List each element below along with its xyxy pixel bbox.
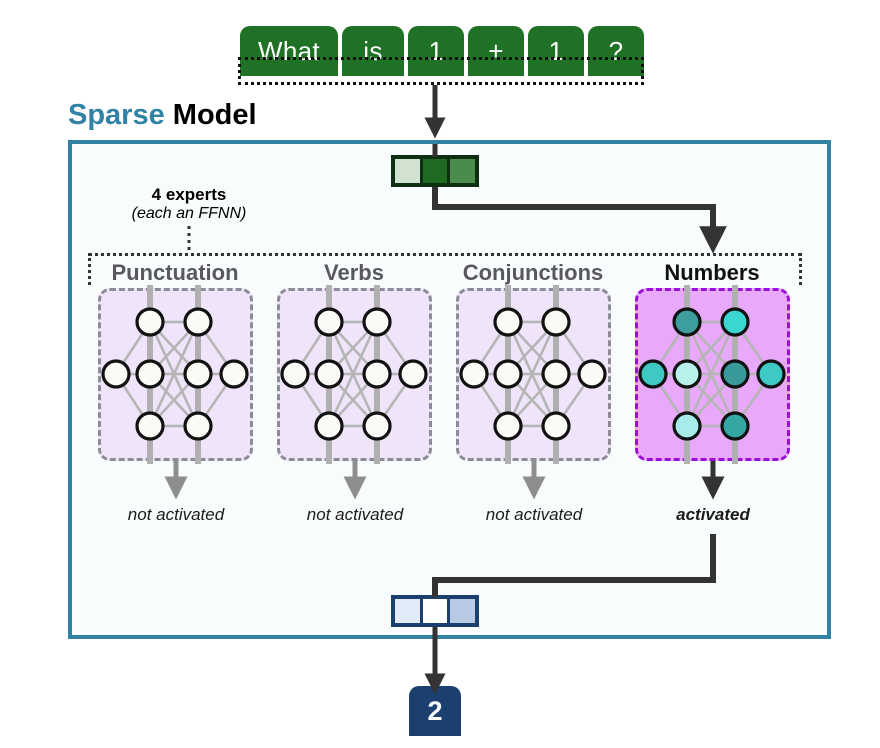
page-title: Sparse Model: [68, 99, 257, 132]
activation-status-numbers: activated: [623, 505, 803, 525]
expert-label-punctuation: Punctuation: [89, 260, 261, 286]
experts-annotation: 4 experts (each an FFNN): [96, 185, 282, 224]
activation-status-conjunctions: not activated: [444, 505, 624, 525]
output-vector-cell: [395, 599, 420, 623]
expert-box-verbs[interactable]: [277, 288, 432, 461]
expert-box-conjunctions[interactable]: [456, 288, 611, 461]
expert-box-numbers[interactable]: [635, 288, 790, 461]
input-token-group-outline: [238, 57, 644, 85]
title-accent-word: Sparse: [68, 99, 165, 131]
router-vector-cell: [423, 159, 448, 183]
router-vector-cell: [395, 159, 420, 183]
activation-status-verbs: not activated: [265, 505, 445, 525]
output-vector-cell: [423, 599, 448, 623]
expert-label-verbs: Verbs: [268, 260, 440, 286]
experts-count-label: 4 experts: [96, 185, 282, 205]
router-vector-cell: [450, 159, 475, 183]
output-vector-cell: [450, 599, 475, 623]
router-vector: [391, 155, 479, 187]
expert-label-numbers: Numbers: [626, 260, 798, 286]
expert-label-conjunctions: Conjunctions: [447, 260, 619, 286]
expert-box-punctuation[interactable]: [98, 288, 253, 461]
diagram-canvas: Sparse Model What is 1 + 1 ? 4 experts (…: [0, 0, 880, 748]
title-plain-word: Model: [173, 99, 257, 131]
answer-box: 2: [409, 686, 461, 736]
experts-subtitle-label: (each an FFNN): [96, 205, 282, 224]
output-vector: [391, 595, 479, 627]
activation-status-punctuation: not activated: [86, 505, 266, 525]
